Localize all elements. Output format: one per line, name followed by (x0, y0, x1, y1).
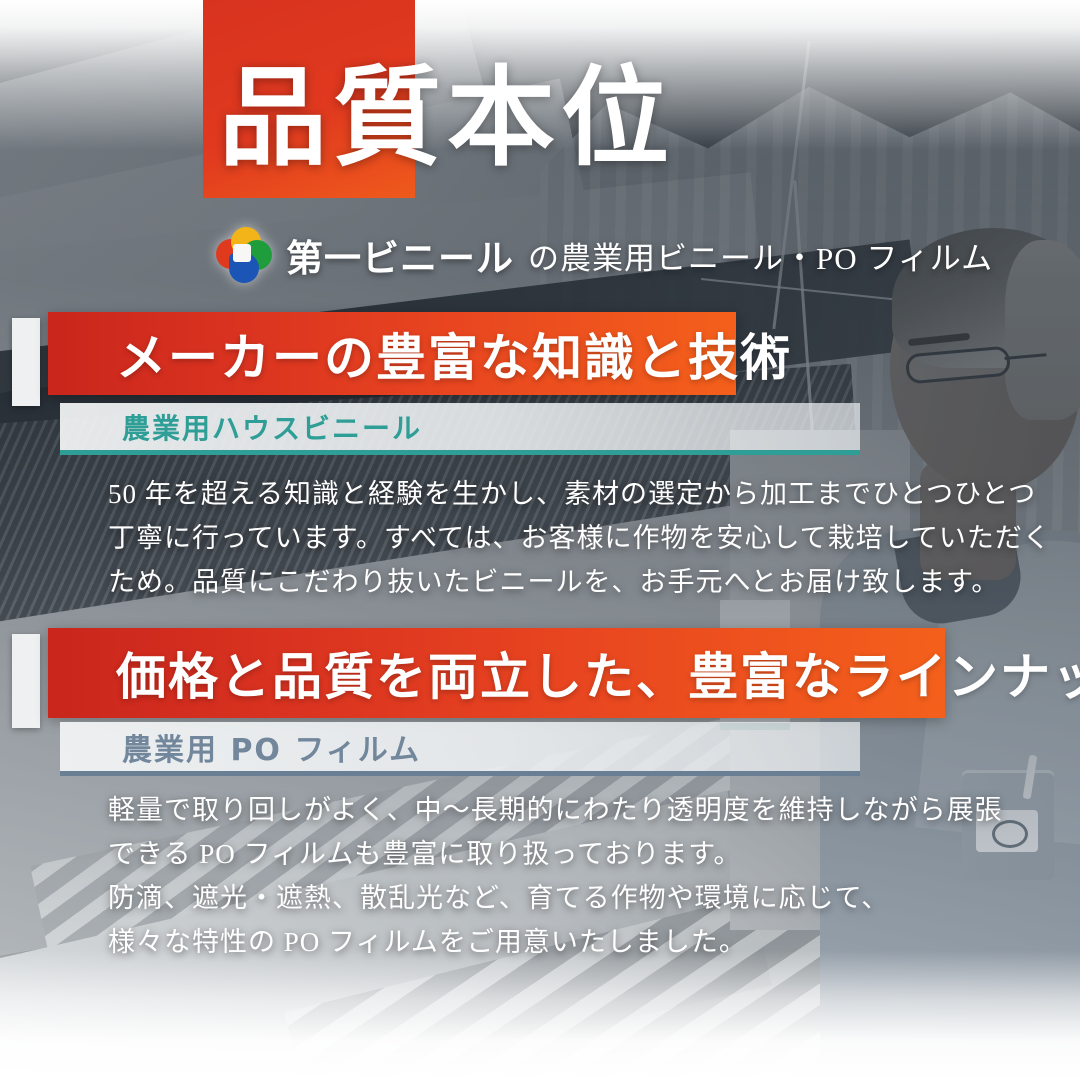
section-body-2: 軽量で取り回しがよく、中〜長期的にわたり透明度を維持しながら展張 できる PO … (108, 788, 928, 964)
section-heading-band-1: メーカーの豊富な知識と技術 (48, 312, 736, 395)
section-heading-1: メーカーの豊富な知識と技術 (48, 318, 792, 390)
brand-name: 第一ビニール (286, 228, 514, 282)
brand-row: 第一ビニール の農業用ビニール・PO フィルム (214, 226, 993, 284)
section-sublabel-1: 農業用ハウスビニール (60, 407, 422, 447)
body-line: 丁寧に行っています。すべては、お客様に作物を安心して栽培していただく (108, 516, 908, 560)
section-accent-bar-1 (12, 318, 40, 406)
section-sublabel-2: 農業用 PO フィルム (60, 725, 421, 769)
body-line: 軽量で取り回しがよく、中〜長期的にわたり透明度を維持しながら展張 (108, 788, 928, 832)
promotional-banner: 品質本位 第一ビニール の農業用ビニール・PO フィルム メーカーの豊富な知識と… (0, 0, 1080, 1080)
page-title: 品質本位 (219, 66, 675, 174)
pinwheel-logo-icon (214, 226, 272, 284)
body-line: できる PO フィルムも豊富に取り扱っております。 (108, 832, 928, 876)
section-heading-2: 価格と品質を両立した、豊富なラインナップ (48, 637, 1080, 709)
section-accent-bar-2 (12, 634, 40, 728)
body-line: ため。品質にこだわり抜いたビニールを、お手元へとお届け致します。 (108, 560, 908, 604)
section-sublabel-strip-2: 農業用 PO フィルム (60, 722, 860, 776)
section-body-1: 50 年を超える知識と経験を生かし、素材の選定から加工までひとつひとつ 丁寧に行… (108, 472, 908, 604)
body-line: 50 年を超える知識と経験を生かし、素材の選定から加工までひとつひとつ (108, 472, 908, 516)
body-line: 様々な特性の PO フィルムをご用意いたしました。 (108, 920, 928, 964)
banner-content: 品質本位 第一ビニール の農業用ビニール・PO フィルム メーカーの豊富な知識と… (0, 0, 1080, 1080)
section-heading-band-2: 価格と品質を両立した、豊富なラインナップ (48, 628, 945, 718)
brand-tagline: の農業用ビニール・PO フィルム (528, 233, 993, 278)
body-line: 防滴、遮光・遮熱、散乱光など、育てる作物や環境に応じて、 (108, 876, 928, 920)
logo-center (233, 244, 251, 262)
section-sublabel-strip-1: 農業用ハウスビニール (60, 403, 860, 455)
